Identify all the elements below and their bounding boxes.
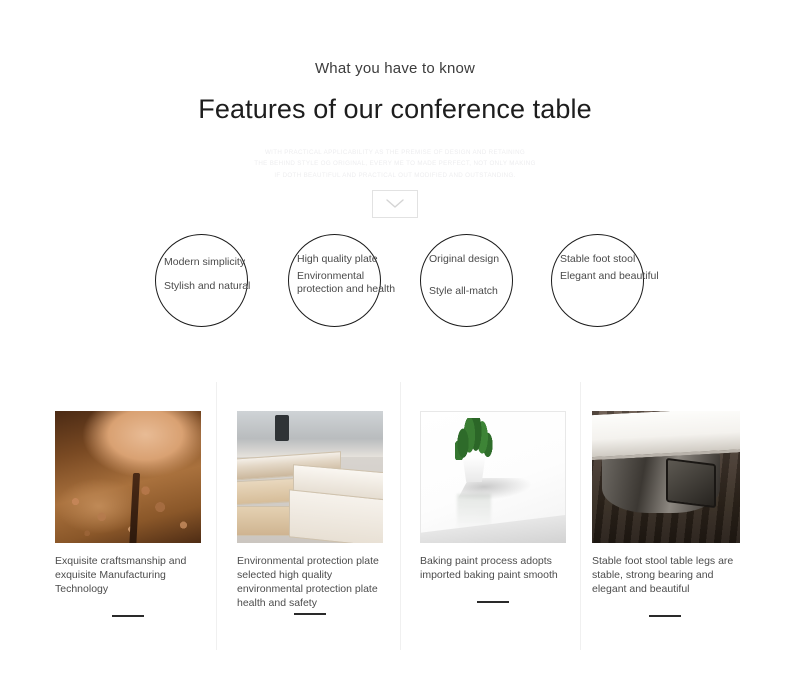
feature-circle-2-top-label: High quality plate [297,253,405,266]
decorative-description: WITH PRACTICAL APPLICABILITY AS THE PREM… [230,147,560,181]
card-divider [400,382,401,650]
feature-circle-3-top-label: Original design [429,253,537,266]
feature-card-craftsmanship: Exquisite craftsmanship and exquisite Ma… [55,382,201,617]
craftsmanship-photo [55,411,201,543]
feature-card-4-caption: Stable foot stool table legs are stable,… [592,555,738,597]
chevron-container [0,190,790,218]
feature-circle-4-top-label: Stable foot stool [560,253,668,266]
feature-circle-2-bottom-label: Environmental protection and health [297,270,405,296]
feature-circle-1-top-label: Modern simplicity [164,256,272,269]
feature-circle-original-design: Original design Style all-match [420,234,513,327]
feature-circle-stable-foot-stool: Stable foot stool Elegant and beautiful [551,234,644,327]
foot-stool-photo [592,411,740,543]
decorative-description-line-1: WITH PRACTICAL APPLICABILITY AS THE PREM… [230,147,560,158]
feature-card-3-caption: Baking paint process adopts imported bak… [420,555,566,583]
feature-card-1-caption: Exquisite craftsmanship and exquisite Ma… [55,555,201,597]
feature-circle-3-bottom-label: Style all-match [429,285,537,298]
card-underline-rule [477,601,509,603]
feature-circle-1-bottom-label: Stylish and natural [164,280,272,293]
chevron-down-button[interactable] [372,190,418,218]
page-title: Features of our conference table [0,95,790,125]
card-underline-rule [649,615,681,617]
baking-paint-surface-photo [420,411,566,543]
eyebrow-text: What you have to know [0,60,790,78]
feature-card-foot-stool: Stable foot stool table legs are stable,… [592,382,738,617]
card-underline-rule [294,613,326,615]
feature-cards-row: Exquisite craftsmanship and exquisite Ma… [0,382,790,672]
chevron-down-icon [386,199,404,209]
feature-circle-modern-simplicity: Modern simplicity Stylish and natural [155,234,248,327]
environmental-board-photo [237,411,383,543]
feature-circle-high-quality-plate: High quality plate Environmental protect… [288,234,381,327]
feature-card-2-caption: Environmental protection plate selected … [237,555,383,610]
card-divider [580,382,581,650]
feature-circle-4-bottom-label: Elegant and beautiful [560,270,668,283]
feature-card-baking-paint: Baking paint process adopts imported bak… [420,382,566,603]
card-underline-rule [112,615,144,617]
feature-circles-row: Modern simplicity Stylish and natural Hi… [0,228,790,346]
card-divider [216,382,217,650]
decorative-description-line-3: IF DOTH BEAUTIFUL AND PRACTICAL OUT MODI… [230,170,560,181]
feature-card-environmental-board: Environmental protection plate selected … [237,382,383,614]
decorative-description-line-2: THE BEHIND STYLE OG ORIGINAL, EVERY ME T… [230,158,560,169]
page-header: What you have to know Features of our co… [0,0,790,125]
